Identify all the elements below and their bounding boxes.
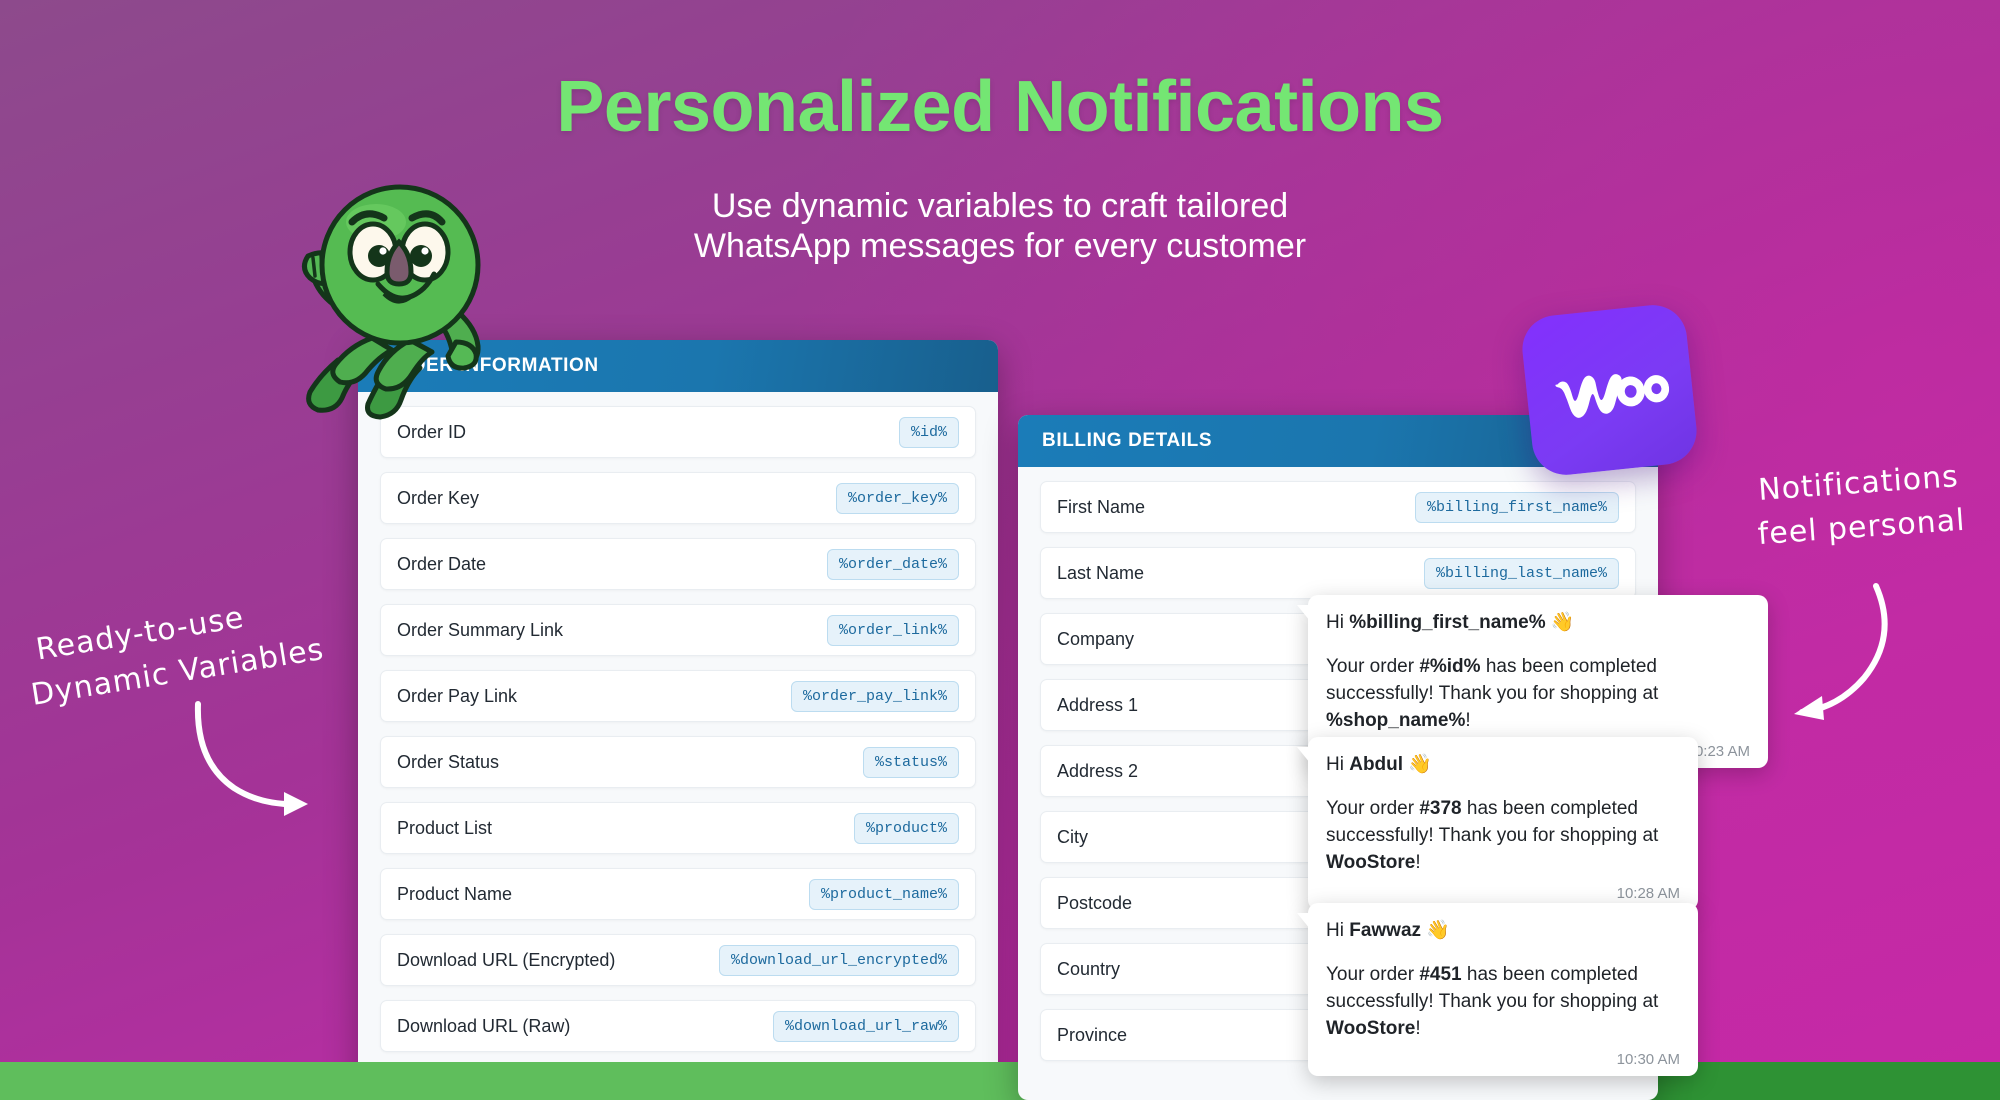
chat-bubble: Hi Abdul 👋 Your order #378 has been comp… xyxy=(1308,737,1698,910)
green-waving-mascot-icon xyxy=(280,160,510,420)
variable-pill[interactable]: %order_link% xyxy=(827,615,959,646)
variable-pill[interactable]: %download_url_encrypted% xyxy=(719,945,959,976)
row-label: Country xyxy=(1057,959,1120,980)
curved-arrow-right-icon xyxy=(190,700,320,820)
row-label: Download URL (Encrypted) xyxy=(397,950,615,971)
chat-bubble: Hi Fawwaz 👋 Your order #451 has been com… xyxy=(1308,903,1698,1076)
shop-name: %shop_name% xyxy=(1326,710,1465,731)
order-reference: #378 xyxy=(1419,798,1461,819)
chat-body: Your order #378 has been completed succe… xyxy=(1326,796,1680,877)
row-label: Order Summary Link xyxy=(397,620,563,641)
variable-pill[interactable]: %billing_last_name% xyxy=(1424,558,1619,589)
chat-body: Your order #%id% has been completed succ… xyxy=(1326,654,1750,735)
body-part-1: Your order xyxy=(1326,656,1419,677)
chat-greeting: Hi %billing_first_name% 👋 xyxy=(1326,611,1750,636)
greeting-prefix: Hi xyxy=(1326,920,1349,941)
table-row[interactable]: Order Summary Link%order_link% xyxy=(380,604,976,656)
body-part-3: ! xyxy=(1465,710,1470,731)
shop-name: WooStore xyxy=(1326,852,1415,873)
waving-hand-icon: 👋 xyxy=(1426,920,1450,941)
variable-pill[interactable]: %billing_first_name% xyxy=(1415,492,1619,523)
row-label: Product List xyxy=(397,818,492,839)
variable-pill[interactable]: %download_url_raw% xyxy=(773,1011,959,1042)
annotation-notifications-personal: Notifications feel personal xyxy=(1742,454,1978,557)
row-label: Order Status xyxy=(397,752,499,773)
message-timestamp: 10:30 AM xyxy=(1326,1051,1680,1068)
row-label: Address 1 xyxy=(1057,695,1138,716)
row-label: Company xyxy=(1057,629,1134,650)
row-label: Last Name xyxy=(1057,563,1144,584)
row-label: Order Date xyxy=(397,554,486,575)
row-label: City xyxy=(1057,827,1088,848)
row-label: Order Pay Link xyxy=(397,686,517,707)
table-row[interactable]: Download URL (Raw)%download_url_raw% xyxy=(380,1000,976,1052)
table-row[interactable]: Last Name%billing_last_name% xyxy=(1040,547,1636,599)
curved-arrow-down-left-icon xyxy=(1780,580,1900,720)
bottom-accent-bar xyxy=(0,1062,2000,1100)
variable-pill[interactable]: %order_pay_link% xyxy=(791,681,959,712)
chat-greeting: Hi Fawwaz 👋 xyxy=(1326,919,1680,944)
greeting-name: Fawwaz xyxy=(1349,920,1421,941)
table-row[interactable]: Order Pay Link%order_pay_link% xyxy=(380,670,976,722)
table-row[interactable]: Product Name%product_name% xyxy=(380,868,976,920)
variable-pill[interactable]: %order_date% xyxy=(827,549,959,580)
table-row[interactable]: Order Key%order_key% xyxy=(380,472,976,524)
panel-billing-details-title: BILLING DETAILS xyxy=(1042,430,1212,452)
row-label: Order Key xyxy=(397,488,479,509)
body-part-3: ! xyxy=(1415,1018,1420,1039)
table-row[interactable]: First Name%billing_first_name% xyxy=(1040,481,1636,533)
table-row[interactable]: Order Date%order_date% xyxy=(380,538,976,590)
row-label: Province xyxy=(1057,1025,1127,1046)
variable-pill[interactable]: %product_name% xyxy=(809,879,959,910)
variable-pill[interactable]: %order_key% xyxy=(836,483,959,514)
row-label: Order ID xyxy=(397,422,466,443)
table-row[interactable]: Download URL (Encrypted)%download_url_en… xyxy=(380,934,976,986)
message-timestamp: 10:28 AM xyxy=(1326,885,1680,902)
row-label: Postcode xyxy=(1057,893,1132,914)
row-label: Address 2 xyxy=(1057,761,1138,782)
variable-pill[interactable]: %status% xyxy=(863,747,959,778)
order-reference: #%id% xyxy=(1419,656,1480,677)
page-title: Personalized Notifications xyxy=(0,66,2000,148)
body-part-1: Your order xyxy=(1326,798,1419,819)
table-row[interactable]: Order Status%status% xyxy=(380,736,976,788)
waving-hand-icon: 👋 xyxy=(1551,612,1575,633)
woo-logo-icon xyxy=(1519,302,1700,478)
body-part-3: ! xyxy=(1415,852,1420,873)
table-row[interactable]: Product List%product% xyxy=(380,802,976,854)
row-label: Download URL (Raw) xyxy=(397,1016,570,1037)
row-label: Product Name xyxy=(397,884,512,905)
waving-hand-icon: 👋 xyxy=(1408,754,1432,775)
variable-pill[interactable]: %product% xyxy=(854,813,959,844)
chat-body: Your order #451 has been completed succe… xyxy=(1326,962,1680,1043)
greeting-prefix: Hi xyxy=(1326,612,1349,633)
greeting-name: Abdul xyxy=(1349,754,1403,775)
panel-order-information: ORDER INFORMATION Order ID%id% Order Key… xyxy=(358,340,998,1100)
greeting-name: %billing_first_name% xyxy=(1349,612,1545,633)
order-reference: #451 xyxy=(1419,964,1461,985)
chat-greeting: Hi Abdul 👋 xyxy=(1326,753,1680,778)
panel-order-information-body: Order ID%id% Order Key%order_key% Order … xyxy=(358,392,998,1052)
greeting-prefix: Hi xyxy=(1326,754,1349,775)
body-part-1: Your order xyxy=(1326,964,1419,985)
shop-name: WooStore xyxy=(1326,1018,1415,1039)
variable-pill[interactable]: %id% xyxy=(899,417,959,448)
row-label: First Name xyxy=(1057,497,1145,518)
